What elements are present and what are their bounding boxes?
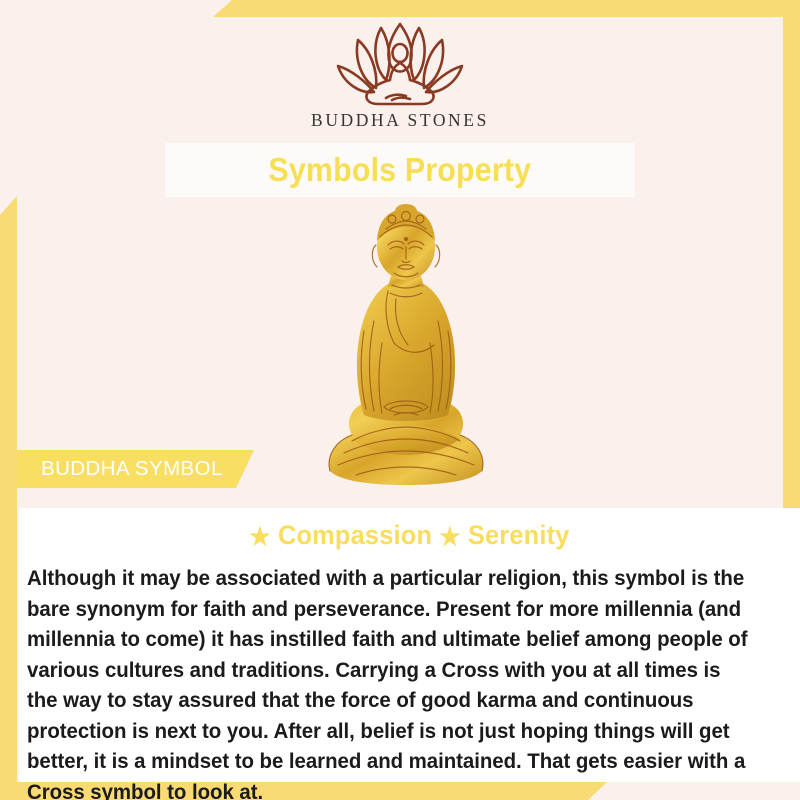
brand-header: BUDDHA STONES xyxy=(0,22,800,131)
brand-name: BUDDHA STONES xyxy=(0,110,800,131)
content-panel: ★ Compassion ★ Serenity Although it may … xyxy=(19,508,800,782)
section-heading: ★ Compassion ★ Serenity xyxy=(42,520,776,552)
decorative-band-left xyxy=(0,196,17,800)
star-icon-left: ★ xyxy=(249,523,270,551)
golden-buddha-statue xyxy=(322,203,490,488)
decorative-band-top xyxy=(213,0,800,17)
poster-canvas: BUDDHA STONES Symbols Property xyxy=(0,0,800,800)
body-paragraph: Although it may be associated with a par… xyxy=(27,563,756,800)
buddha-symbol-tag: BUDDHA SYMBOL xyxy=(17,450,254,488)
lotus-meditation-icon xyxy=(334,22,466,106)
section-heading-serenity: Serenity xyxy=(468,520,570,550)
section-heading-compassion: Compassion xyxy=(278,520,432,550)
star-icon-right: ★ xyxy=(439,523,460,551)
buddha-symbol-tag-label: BUDDHA SYMBOL xyxy=(17,457,223,481)
page-title: Symbols Property xyxy=(269,151,532,189)
buddha-statue-illustration xyxy=(322,203,490,488)
title-banner: Symbols Property xyxy=(165,143,635,197)
